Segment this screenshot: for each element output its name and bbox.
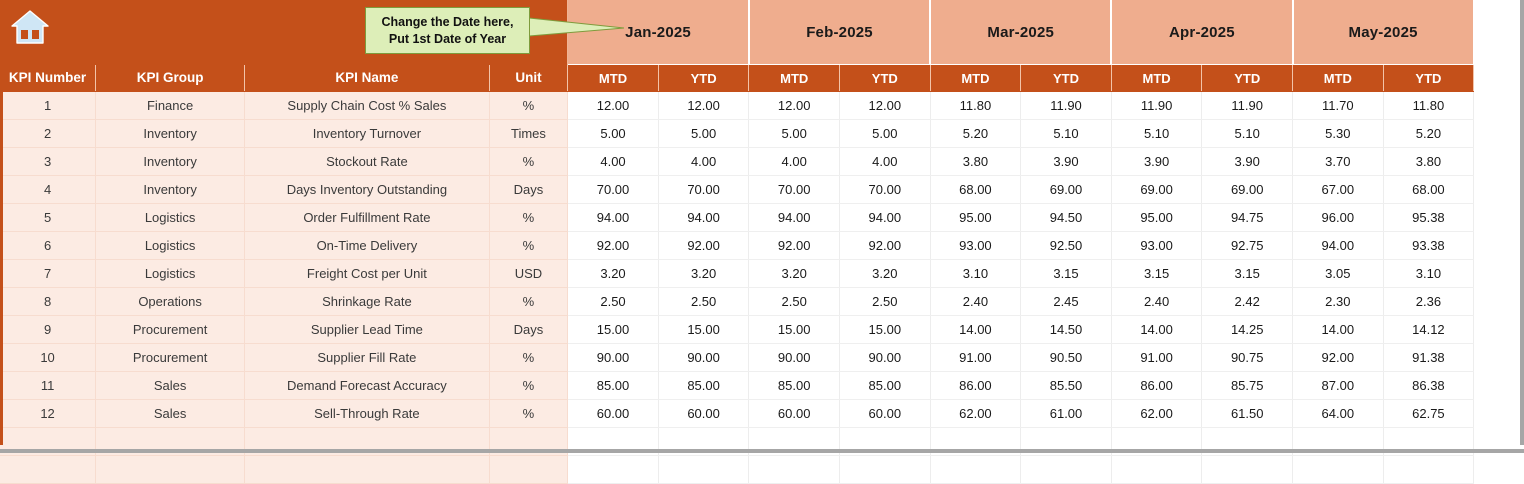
value-cell-apr-ytd[interactable]: 3.15 <box>1202 260 1293 288</box>
kpi-group-cell[interactable] <box>96 456 245 484</box>
value-cell-mar-mtd[interactable]: 62.00 <box>930 400 1021 428</box>
value-cell-jan-ytd[interactable]: 94.00 <box>658 204 749 232</box>
value-cell-may-ytd[interactable]: 68.00 <box>1383 176 1474 204</box>
kpi-name-cell[interactable]: Supplier Fill Rate <box>245 344 490 372</box>
value-cell-mar-ytd[interactable]: 3.90 <box>1021 148 1112 176</box>
value-cell-apr-ytd[interactable]: 14.25 <box>1202 316 1293 344</box>
right-pad-2 <box>1474 65 1512 92</box>
col-feb-mtd: MTD <box>749 65 840 92</box>
value-cell-apr-mtd[interactable] <box>1111 456 1202 484</box>
kpi-group-cell[interactable]: Procurement <box>96 344 245 372</box>
value-cell-jan-mtd[interactable]: 15.00 <box>568 316 659 344</box>
value-cell-apr-ytd[interactable]: 85.75 <box>1202 372 1293 400</box>
value-cell-feb-ytd[interactable] <box>840 456 931 484</box>
kpi-number-cell[interactable]: 8 <box>0 288 96 316</box>
col-jan-ytd: YTD <box>658 65 749 92</box>
kpi-group-cell[interactable]: Logistics <box>96 260 245 288</box>
value-cell-apr-mtd[interactable]: 11.90 <box>1111 92 1202 120</box>
value-cell-feb-mtd[interactable]: 94.00 <box>749 204 840 232</box>
kpi-unit-cell[interactable]: % <box>489 204 568 232</box>
month-header-feb: Feb-2025 <box>749 0 930 65</box>
col-jan-mtd: MTD <box>568 65 659 92</box>
value-cell-feb-ytd[interactable]: 4.00 <box>840 148 931 176</box>
kpi-name-cell[interactable]: Stockout Rate <box>245 148 490 176</box>
kpi-number-cell[interactable]: 11 <box>0 372 96 400</box>
value-cell-mar-mtd[interactable]: 2.40 <box>930 288 1021 316</box>
row-right-pad <box>1474 456 1512 484</box>
value-cell-mar-ytd[interactable]: 92.50 <box>1021 232 1112 260</box>
value-cell-jan-ytd[interactable]: 5.00 <box>658 120 749 148</box>
value-cell-feb-mtd[interactable]: 2.50 <box>749 288 840 316</box>
table-row: 3InventoryStockout Rate%4.004.004.004.00… <box>0 148 1512 176</box>
kpi-group-cell[interactable]: Sales <box>96 372 245 400</box>
value-cell-may-ytd[interactable]: 62.75 <box>1383 400 1474 428</box>
value-cell-jan-ytd[interactable]: 4.00 <box>658 148 749 176</box>
kpi-number-cell[interactable]: 1 <box>0 92 96 120</box>
value-cell-apr-mtd[interactable]: 95.00 <box>1111 204 1202 232</box>
value-cell-jan-mtd[interactable]: 12.00 <box>568 92 659 120</box>
kpi-unit-cell[interactable]: % <box>489 344 568 372</box>
callout-line-1: Change the Date here, <box>382 14 514 31</box>
kpi-unit-cell[interactable]: % <box>489 92 568 120</box>
value-cell-may-ytd[interactable]: 11.80 <box>1383 92 1474 120</box>
table-row: 5LogisticsOrder Fulfillment Rate%94.0094… <box>0 204 1512 232</box>
row-right-pad <box>1474 344 1512 372</box>
kpi-unit-cell[interactable]: % <box>489 400 568 428</box>
value-cell-mar-ytd[interactable]: 61.00 <box>1021 400 1112 428</box>
row-right-pad <box>1474 260 1512 288</box>
kpi-name-cell[interactable]: Days Inventory Outstanding <box>245 176 490 204</box>
row-right-pad <box>1474 288 1512 316</box>
value-cell-may-ytd[interactable]: 93.38 <box>1383 232 1474 260</box>
table-row: 12SalesSell-Through Rate%60.0060.0060.00… <box>0 400 1512 428</box>
kpi-table: Jan-2025 Feb-2025 Mar-2025 Apr-2025 May-… <box>0 0 1512 484</box>
value-cell-may-mtd[interactable]: 14.00 <box>1293 316 1384 344</box>
kpi-unit-cell[interactable]: % <box>489 372 568 400</box>
value-cell-may-mtd[interactable]: 3.05 <box>1293 260 1384 288</box>
value-cell-jan-mtd[interactable]: 70.00 <box>568 176 659 204</box>
month-header-mar: Mar-2025 <box>930 0 1111 65</box>
value-cell-feb-mtd[interactable]: 70.00 <box>749 176 840 204</box>
value-cell-feb-mtd[interactable]: 5.00 <box>749 120 840 148</box>
value-cell-feb-ytd[interactable]: 12.00 <box>840 92 931 120</box>
table-row: 9ProcurementSupplier Lead TimeDays15.001… <box>0 316 1512 344</box>
sheet-left-edge <box>0 0 3 445</box>
table-row <box>0 456 1512 484</box>
kpi-group-cell[interactable]: Operations <box>96 288 245 316</box>
value-cell-feb-ytd[interactable]: 85.00 <box>840 372 931 400</box>
kpi-name-cell[interactable]: Demand Forecast Accuracy <box>245 372 490 400</box>
col-may-ytd: YTD <box>1383 65 1474 92</box>
kpi-group-cell[interactable]: Sales <box>96 400 245 428</box>
value-cell-mar-mtd[interactable]: 95.00 <box>930 204 1021 232</box>
value-cell-feb-mtd[interactable]: 12.00 <box>749 92 840 120</box>
col-kpi-group: KPI Group <box>96 65 245 92</box>
value-cell-apr-mtd[interactable]: 86.00 <box>1111 372 1202 400</box>
value-cell-mar-mtd[interactable]: 11.80 <box>930 92 1021 120</box>
table-row: 4InventoryDays Inventory OutstandingDays… <box>0 176 1512 204</box>
value-cell-jan-mtd[interactable] <box>568 456 659 484</box>
kpi-group-cell[interactable]: Logistics <box>96 232 245 260</box>
kpi-name-cell[interactable] <box>245 456 490 484</box>
date-change-callout: Change the Date here, Put 1st Date of Ye… <box>365 7 530 54</box>
kpi-group-cell[interactable]: Inventory <box>96 148 245 176</box>
value-cell-mar-mtd[interactable]: 68.00 <box>930 176 1021 204</box>
kpi-unit-cell[interactable] <box>489 456 568 484</box>
value-cell-may-ytd[interactable]: 86.38 <box>1383 372 1474 400</box>
value-cell-mar-ytd[interactable]: 14.50 <box>1021 316 1112 344</box>
value-cell-may-ytd[interactable]: 3.10 <box>1383 260 1474 288</box>
value-cell-mar-mtd[interactable]: 5.20 <box>930 120 1021 148</box>
value-cell-mar-mtd[interactable]: 3.10 <box>930 260 1021 288</box>
banner-row: Jan-2025 Feb-2025 Mar-2025 Apr-2025 May-… <box>0 0 1512 65</box>
value-cell-feb-mtd[interactable]: 85.00 <box>749 372 840 400</box>
sheet-bottom-edge <box>0 449 1524 453</box>
kpi-number-cell[interactable]: 12 <box>0 400 96 428</box>
kpi-name-cell[interactable]: On-Time Delivery <box>245 232 490 260</box>
kpi-unit-cell[interactable]: Days <box>489 316 568 344</box>
sheet-right-edge <box>1520 0 1524 445</box>
value-cell-jan-mtd[interactable]: 5.00 <box>568 120 659 148</box>
kpi-unit-cell[interactable]: % <box>489 148 568 176</box>
value-cell-may-mtd[interactable]: 2.30 <box>1293 288 1384 316</box>
value-cell-jan-ytd[interactable]: 90.00 <box>658 344 749 372</box>
value-cell-feb-mtd[interactable]: 3.20 <box>749 260 840 288</box>
kpi-name-cell[interactable]: Order Fulfillment Rate <box>245 204 490 232</box>
row-right-pad <box>1474 232 1512 260</box>
kpi-number-cell[interactable]: 3 <box>0 148 96 176</box>
kpi-name-cell[interactable]: Inventory Turnover <box>245 120 490 148</box>
value-cell-feb-ytd[interactable]: 70.00 <box>840 176 931 204</box>
value-cell-apr-ytd[interactable]: 5.10 <box>1202 120 1293 148</box>
value-cell-may-ytd[interactable]: 2.36 <box>1383 288 1474 316</box>
value-cell-feb-ytd[interactable]: 90.00 <box>840 344 931 372</box>
kpi-group-cell[interactable]: Finance <box>96 92 245 120</box>
value-cell-may-mtd[interactable]: 3.70 <box>1293 148 1384 176</box>
value-cell-apr-mtd[interactable]: 93.00 <box>1111 232 1202 260</box>
value-cell-jan-mtd[interactable]: 3.20 <box>568 260 659 288</box>
col-unit: Unit <box>489 65 568 92</box>
kpi-unit-cell[interactable]: % <box>489 288 568 316</box>
value-cell-may-ytd[interactable]: 95.38 <box>1383 204 1474 232</box>
value-cell-feb-mtd[interactable]: 4.00 <box>749 148 840 176</box>
value-cell-may-mtd[interactable]: 67.00 <box>1293 176 1384 204</box>
value-cell-jan-ytd[interactable]: 92.00 <box>658 232 749 260</box>
value-cell-mar-mtd[interactable]: 14.00 <box>930 316 1021 344</box>
callout-pointer-icon <box>529 16 624 38</box>
value-cell-feb-ytd[interactable]: 60.00 <box>840 400 931 428</box>
kpi-number-cell[interactable]: 5 <box>0 204 96 232</box>
kpi-unit-cell[interactable]: Days <box>489 176 568 204</box>
col-apr-mtd: MTD <box>1111 65 1202 92</box>
col-apr-ytd: YTD <box>1202 65 1293 92</box>
value-cell-mar-mtd[interactable]: 93.00 <box>930 232 1021 260</box>
value-cell-apr-ytd[interactable]: 3.90 <box>1202 148 1293 176</box>
col-kpi-name: KPI Name <box>245 65 490 92</box>
value-cell-may-mtd[interactable] <box>1293 456 1384 484</box>
table-row: 6LogisticsOn-Time Delivery%92.0092.0092.… <box>0 232 1512 260</box>
value-cell-may-ytd[interactable]: 91.38 <box>1383 344 1474 372</box>
value-cell-may-mtd[interactable]: 96.00 <box>1293 204 1384 232</box>
row-right-pad <box>1474 204 1512 232</box>
kpi-number-cell[interactable]: 2 <box>0 120 96 148</box>
value-cell-may-ytd[interactable] <box>1383 456 1474 484</box>
callout-line-2: Put 1st Date of Year <box>389 31 506 48</box>
value-cell-apr-ytd[interactable] <box>1202 456 1293 484</box>
value-cell-may-mtd[interactable]: 5.30 <box>1293 120 1384 148</box>
value-cell-mar-ytd[interactable]: 3.15 <box>1021 260 1112 288</box>
value-cell-mar-ytd[interactable] <box>1021 456 1112 484</box>
value-cell-apr-mtd[interactable]: 91.00 <box>1111 344 1202 372</box>
kpi-name-cell[interactable]: Supply Chain Cost % Sales <box>245 92 490 120</box>
value-cell-feb-ytd[interactable]: 2.50 <box>840 288 931 316</box>
value-cell-jan-ytd[interactable]: 2.50 <box>658 288 749 316</box>
value-cell-feb-mtd[interactable]: 92.00 <box>749 232 840 260</box>
col-kpi-number: KPI Number <box>0 65 96 92</box>
value-cell-mar-mtd[interactable]: 86.00 <box>930 372 1021 400</box>
value-cell-mar-mtd[interactable]: 91.00 <box>930 344 1021 372</box>
value-cell-jan-ytd[interactable]: 70.00 <box>658 176 749 204</box>
col-may-mtd: MTD <box>1293 65 1384 92</box>
value-cell-jan-mtd[interactable]: 85.00 <box>568 372 659 400</box>
value-cell-feb-mtd[interactable]: 60.00 <box>749 400 840 428</box>
value-cell-jan-mtd[interactable]: 4.00 <box>568 148 659 176</box>
value-cell-feb-ytd[interactable]: 15.00 <box>840 316 931 344</box>
value-cell-feb-ytd[interactable]: 5.00 <box>840 120 931 148</box>
month-header-apr: Apr-2025 <box>1111 0 1292 65</box>
kpi-number-cell[interactable]: 10 <box>0 344 96 372</box>
value-cell-feb-ytd[interactable]: 92.00 <box>840 232 931 260</box>
row-right-pad <box>1474 176 1512 204</box>
table-row: 11SalesDemand Forecast Accuracy%85.0085.… <box>0 372 1512 400</box>
value-cell-mar-ytd[interactable]: 69.00 <box>1021 176 1112 204</box>
col-mar-ytd: YTD <box>1021 65 1112 92</box>
value-cell-may-mtd[interactable]: 11.70 <box>1293 92 1384 120</box>
kpi-dashboard-sheet: Jan-2025 Feb-2025 Mar-2025 Apr-2025 May-… <box>0 0 1524 453</box>
kpi-number-cell[interactable]: 9 <box>0 316 96 344</box>
value-cell-may-ytd[interactable]: 14.12 <box>1383 316 1474 344</box>
kpi-unit-cell[interactable]: USD <box>489 260 568 288</box>
table-row: 7LogisticsFreight Cost per UnitUSD3.203.… <box>0 260 1512 288</box>
value-cell-apr-mtd[interactable]: 3.90 <box>1111 148 1202 176</box>
table-row: 8OperationsShrinkage Rate%2.502.502.502.… <box>0 288 1512 316</box>
value-cell-feb-ytd[interactable]: 3.20 <box>840 260 931 288</box>
col-feb-ytd: YTD <box>840 65 931 92</box>
kpi-number-cell[interactable]: 6 <box>0 232 96 260</box>
kpi-number-cell[interactable]: 7 <box>0 260 96 288</box>
value-cell-mar-ytd[interactable]: 2.45 <box>1021 288 1112 316</box>
column-header-row: KPI Number KPI Group KPI Name Unit MTD Y… <box>0 65 1512 92</box>
value-cell-feb-mtd[interactable]: 15.00 <box>749 316 840 344</box>
value-cell-may-ytd[interactable]: 5.20 <box>1383 120 1474 148</box>
value-cell-mar-ytd[interactable]: 90.50 <box>1021 344 1112 372</box>
value-cell-mar-mtd[interactable]: 3.80 <box>930 148 1021 176</box>
value-cell-may-mtd[interactable]: 87.00 <box>1293 372 1384 400</box>
row-right-pad <box>1474 120 1512 148</box>
value-cell-apr-mtd[interactable]: 14.00 <box>1111 316 1202 344</box>
kpi-number-cell[interactable]: 4 <box>0 176 96 204</box>
value-cell-mar-ytd[interactable]: 11.90 <box>1021 92 1112 120</box>
value-cell-apr-mtd[interactable]: 2.40 <box>1111 288 1202 316</box>
value-cell-jan-mtd[interactable]: 90.00 <box>568 344 659 372</box>
kpi-number-cell[interactable] <box>0 456 96 484</box>
table-row: 1FinanceSupply Chain Cost % Sales%12.001… <box>0 92 1512 120</box>
value-cell-apr-mtd[interactable]: 3.15 <box>1111 260 1202 288</box>
value-cell-feb-ytd[interactable]: 94.00 <box>840 204 931 232</box>
value-cell-apr-mtd[interactable]: 5.10 <box>1111 120 1202 148</box>
value-cell-apr-mtd[interactable]: 69.00 <box>1111 176 1202 204</box>
value-cell-apr-ytd[interactable]: 92.75 <box>1202 232 1293 260</box>
value-cell-apr-mtd[interactable]: 62.00 <box>1111 400 1202 428</box>
kpi-group-cell[interactable]: Inventory <box>96 176 245 204</box>
kpi-group-cell[interactable]: Procurement <box>96 316 245 344</box>
value-cell-jan-ytd[interactable]: 85.00 <box>658 372 749 400</box>
table-row: 2InventoryInventory TurnoverTimes5.005.0… <box>0 120 1512 148</box>
value-cell-apr-ytd[interactable]: 94.75 <box>1202 204 1293 232</box>
kpi-name-cell[interactable]: Sell-Through Rate <box>245 400 490 428</box>
col-mar-mtd: MTD <box>930 65 1021 92</box>
value-cell-jan-ytd[interactable]: 3.20 <box>658 260 749 288</box>
value-cell-mar-ytd[interactable]: 5.10 <box>1021 120 1112 148</box>
value-cell-mar-mtd[interactable] <box>930 456 1021 484</box>
value-cell-mar-ytd[interactable]: 94.50 <box>1021 204 1112 232</box>
row-right-pad <box>1474 400 1512 428</box>
value-cell-apr-ytd[interactable]: 61.50 <box>1202 400 1293 428</box>
value-cell-jan-ytd[interactable]: 12.00 <box>658 92 749 120</box>
value-cell-feb-mtd[interactable]: 90.00 <box>749 344 840 372</box>
value-cell-apr-ytd[interactable]: 11.90 <box>1202 92 1293 120</box>
kpi-unit-cell[interactable]: Times <box>489 120 568 148</box>
value-cell-apr-ytd[interactable]: 2.42 <box>1202 288 1293 316</box>
right-pad <box>1474 0 1512 65</box>
value-cell-mar-ytd[interactable]: 85.50 <box>1021 372 1112 400</box>
value-cell-jan-mtd[interactable]: 2.50 <box>568 288 659 316</box>
value-cell-may-mtd[interactable]: 94.00 <box>1293 232 1384 260</box>
value-cell-jan-mtd[interactable]: 94.00 <box>568 204 659 232</box>
home-icon[interactable] <box>10 8 50 46</box>
kpi-group-cell[interactable]: Logistics <box>96 204 245 232</box>
value-cell-may-mtd[interactable]: 64.00 <box>1293 400 1384 428</box>
kpi-name-cell[interactable]: Supplier Lead Time <box>245 316 490 344</box>
value-cell-apr-ytd[interactable]: 90.75 <box>1202 344 1293 372</box>
value-cell-jan-mtd[interactable]: 92.00 <box>568 232 659 260</box>
table-row: 10ProcurementSupplier Fill Rate%90.0090.… <box>0 344 1512 372</box>
row-right-pad <box>1474 148 1512 176</box>
value-cell-jan-ytd[interactable]: 60.00 <box>658 400 749 428</box>
kpi-name-cell[interactable]: Freight Cost per Unit <box>245 260 490 288</box>
row-right-pad <box>1474 92 1512 120</box>
value-cell-may-mtd[interactable]: 92.00 <box>1293 344 1384 372</box>
kpi-group-cell[interactable]: Inventory <box>96 120 245 148</box>
value-cell-jan-ytd[interactable]: 15.00 <box>658 316 749 344</box>
value-cell-apr-ytd[interactable]: 69.00 <box>1202 176 1293 204</box>
kpi-unit-cell[interactable]: % <box>489 232 568 260</box>
row-right-pad <box>1474 316 1512 344</box>
value-cell-jan-ytd[interactable] <box>658 456 749 484</box>
kpi-table-body: 1FinanceSupply Chain Cost % Sales%12.001… <box>0 92 1512 484</box>
value-cell-jan-mtd[interactable]: 60.00 <box>568 400 659 428</box>
kpi-name-cell[interactable]: Shrinkage Rate <box>245 288 490 316</box>
month-header-may: May-2025 <box>1293 0 1474 65</box>
row-right-pad <box>1474 372 1512 400</box>
value-cell-may-ytd[interactable]: 3.80 <box>1383 148 1474 176</box>
value-cell-feb-mtd[interactable] <box>749 456 840 484</box>
